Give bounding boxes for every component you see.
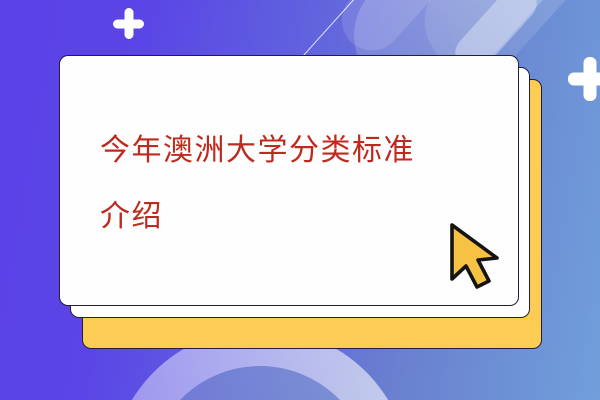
cursor-arrow-icon <box>447 221 509 291</box>
concentric-arc-inner-icon <box>149 366 371 400</box>
title-line-1: 今年澳洲大学分类标准 <box>100 118 490 184</box>
plus-icon-top-left <box>113 8 144 39</box>
diagonal-bars-decoration <box>330 0 475 63</box>
plus-icon-right-edge <box>568 57 600 101</box>
title-line-2: 介绍 <box>100 184 490 250</box>
slide-canvas: 今年澳洲大学分类标准 介绍 <box>0 0 600 400</box>
page-title: 今年澳洲大学分类标准 介绍 <box>100 118 490 250</box>
